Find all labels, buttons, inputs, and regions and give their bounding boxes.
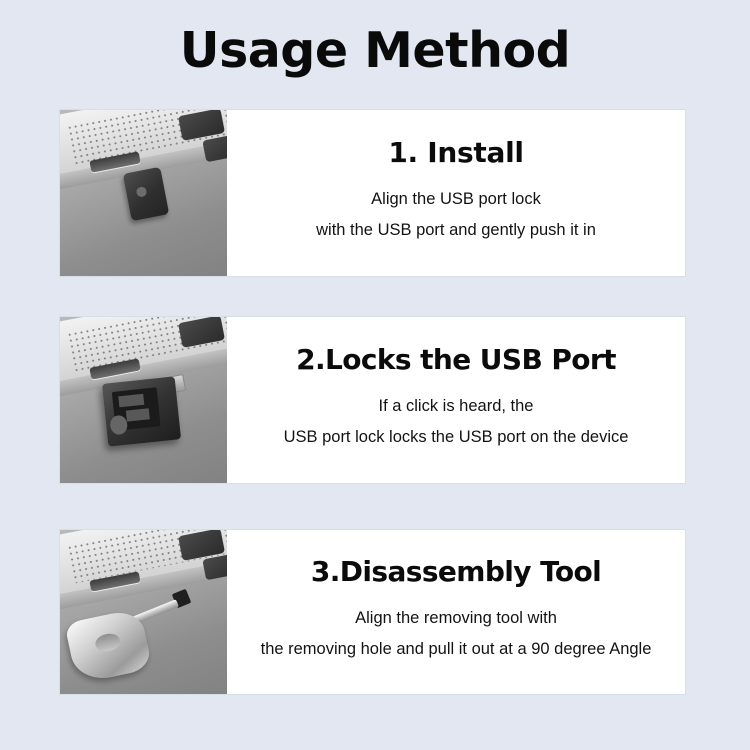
step-1-text: 1. Install Align the USB port lock with …	[227, 110, 685, 276]
step-card-1: 1. Install Align the USB port lock with …	[60, 110, 685, 276]
step-3-desc-line-1: Align the removing tool with	[355, 603, 557, 634]
step-1-photo	[60, 110, 227, 276]
step-2-desc-line-1: If a click is heard, the	[379, 391, 534, 422]
usb-port-lock-hole	[110, 415, 128, 436]
usage-method-page: Usage Method 1. Install Align the USB po…	[0, 0, 750, 750]
step-2-photo	[60, 317, 227, 483]
step-2-text: 2.Locks the USB Port If a click is heard…	[227, 317, 685, 483]
step-card-3: 3.Disassembly Tool Align the removing to…	[60, 530, 685, 694]
step-3-desc-line-2: the removing hole and pull it out at a 9…	[261, 634, 652, 665]
step-1-desc-line-2: with the USB port and gently push it in	[316, 215, 596, 246]
step-3-heading: 3.Disassembly Tool	[311, 555, 601, 589]
step-card-2: 2.Locks the USB Port If a click is heard…	[60, 317, 685, 483]
page-title: Usage Method	[0, 22, 750, 80]
step-1-heading: 1. Install	[388, 136, 523, 170]
step-1-desc-line-1: Align the USB port lock	[371, 184, 541, 215]
usb-port-lock-icon	[102, 376, 182, 446]
step-2-desc-line-2: USB port lock locks the USB port on the …	[284, 422, 629, 453]
step-3-photo	[60, 530, 227, 694]
step-2-heading: 2.Locks the USB Port	[296, 343, 616, 377]
step-3-text: 3.Disassembly Tool Align the removing to…	[227, 530, 685, 694]
